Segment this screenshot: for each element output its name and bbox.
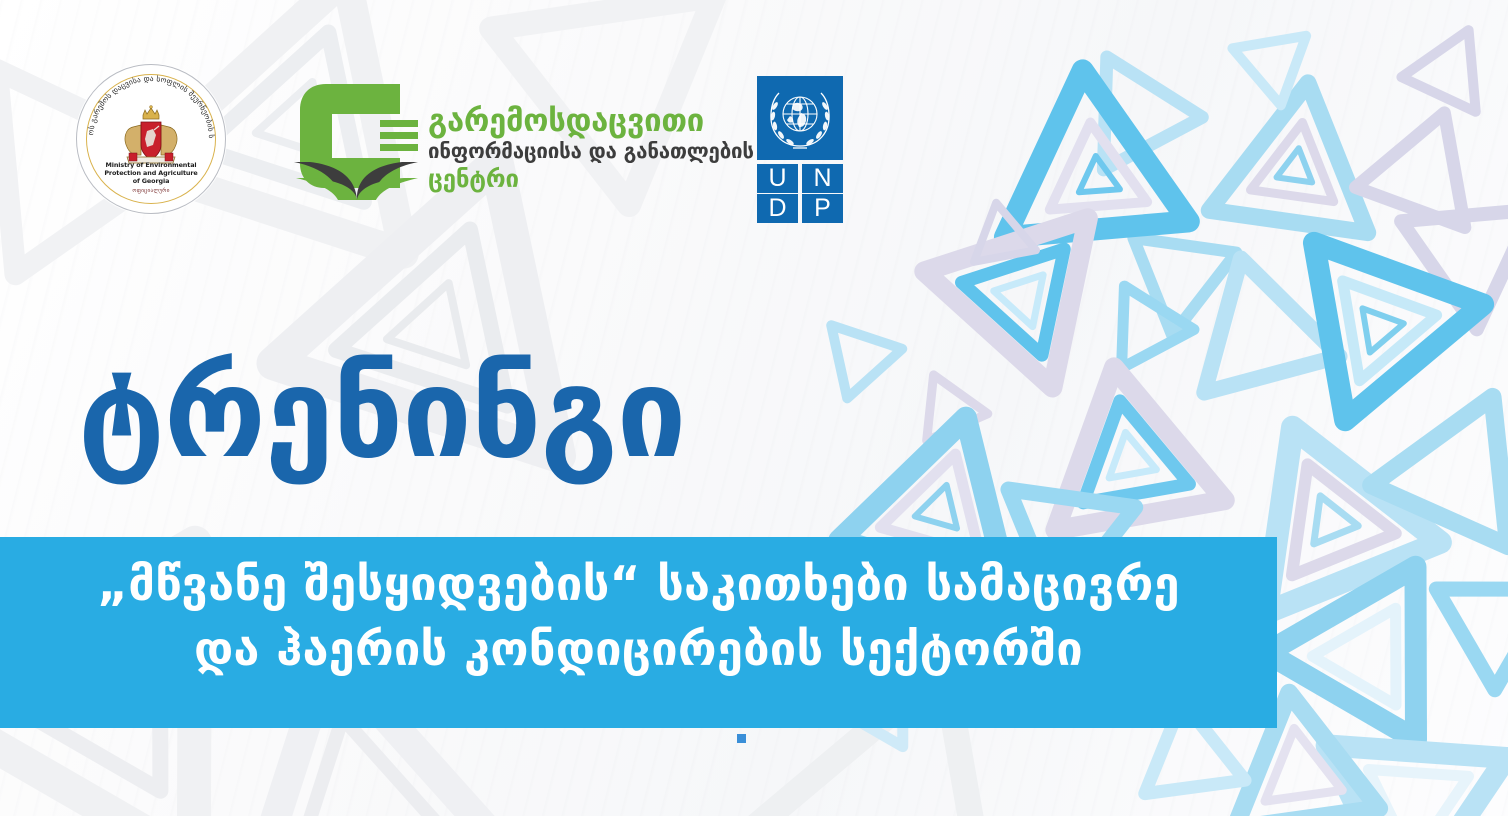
eiec-line-2: ინფორმაციისა და განათლების [428, 139, 728, 165]
logo-row: საქართველოს გარემოს დაცვისა და სოფლის მე… [0, 0, 1508, 240]
seal-latin-line-1: Ministry of Environmental [77, 161, 225, 169]
subtitle-banner-text: „მწვანე შესყიდვების“ საკითხები სამაცივრე… [0, 553, 1277, 683]
eiec-line-3: ცენტრი [428, 166, 728, 192]
poster-canvas: საქართველოს გარემოს დაცვისა და სოფლის მე… [0, 0, 1508, 816]
page-title: ტრენინგი [78, 352, 686, 476]
un-emblem-icon [757, 76, 843, 160]
ministry-seal-logo: საქართველოს გარემოს დაცვისა და სოფლის მე… [76, 64, 226, 214]
eiec-logo: გარემოსდაცვითი ინფორმაციისა და განათლები… [292, 78, 722, 204]
eiec-text-block: გარემოსდაცვითი ინფორმაციისა და განათლები… [428, 106, 728, 192]
seal-latin-line-3: of Georgia [77, 177, 225, 185]
subtitle-line-1: „მწვანე შესყიდვების“ საკითხები სამაცივრე [0, 553, 1277, 618]
undp-logo: U N D P [757, 76, 843, 223]
seal-small-ka-text: ოფიციალური [77, 188, 225, 194]
undp-letter-p: P [802, 194, 843, 223]
undp-letter-d: D [757, 194, 798, 223]
decorative-blue-dot [737, 734, 746, 743]
subtitle-line-2: და ჰაერის კონდიცირების სექტორში [0, 618, 1277, 683]
undp-letter-n: N [802, 164, 843, 193]
eiec-book-mark-icon [292, 78, 422, 200]
un-globe-wreath-icon [757, 76, 843, 160]
eiec-line-1: გარემოსდაცვითი [428, 106, 728, 137]
seal-latin-text: Ministry of Environmental Protection and… [77, 161, 225, 186]
undp-letter-u: U [757, 164, 798, 193]
coat-of-arms-icon [113, 105, 189, 167]
subtitle-banner: „მწვანე შესყიდვების“ საკითხები სამაცივრე… [0, 537, 1277, 728]
seal-latin-line-2: Protection and Agriculture [77, 169, 225, 177]
